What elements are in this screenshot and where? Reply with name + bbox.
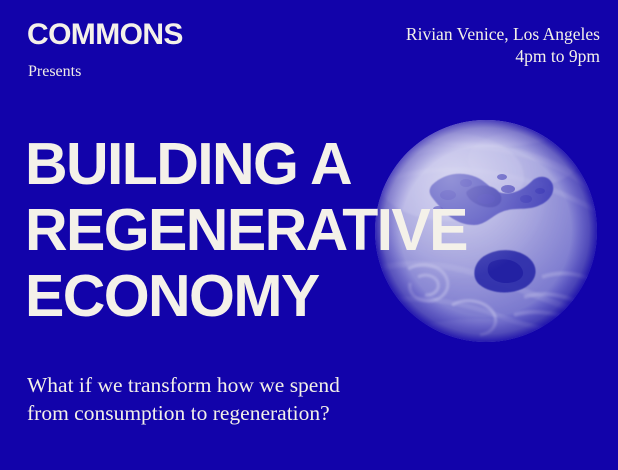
venue-location: Rivian Venice, Los Angeles (406, 24, 600, 46)
venue-time: 4pm to 9pm (406, 46, 600, 68)
headline-line-1: BUILDING A (25, 131, 467, 197)
subheadline-line-2: from consumption to regeneration? (27, 399, 340, 427)
venue-details: Rivian Venice, Los Angeles 4pm to 9pm (406, 24, 600, 67)
subheadline: What if we transform how we spend from c… (27, 371, 340, 427)
subheadline-line-1: What if we transform how we spend (27, 371, 340, 399)
brand-presents-label: Presents (28, 64, 183, 80)
event-poster: COMMONS Presents Rivian Venice, Los Ange… (0, 0, 618, 470)
headline-line-2: REGENERATIVE (25, 197, 467, 263)
headline-line-3: ECONOMY (25, 263, 467, 329)
brand-block: COMMONS Presents (27, 20, 183, 80)
page-title: BUILDING A REGENERATIVE ECONOMY (25, 131, 467, 329)
brand-name: COMMONS (27, 20, 183, 50)
